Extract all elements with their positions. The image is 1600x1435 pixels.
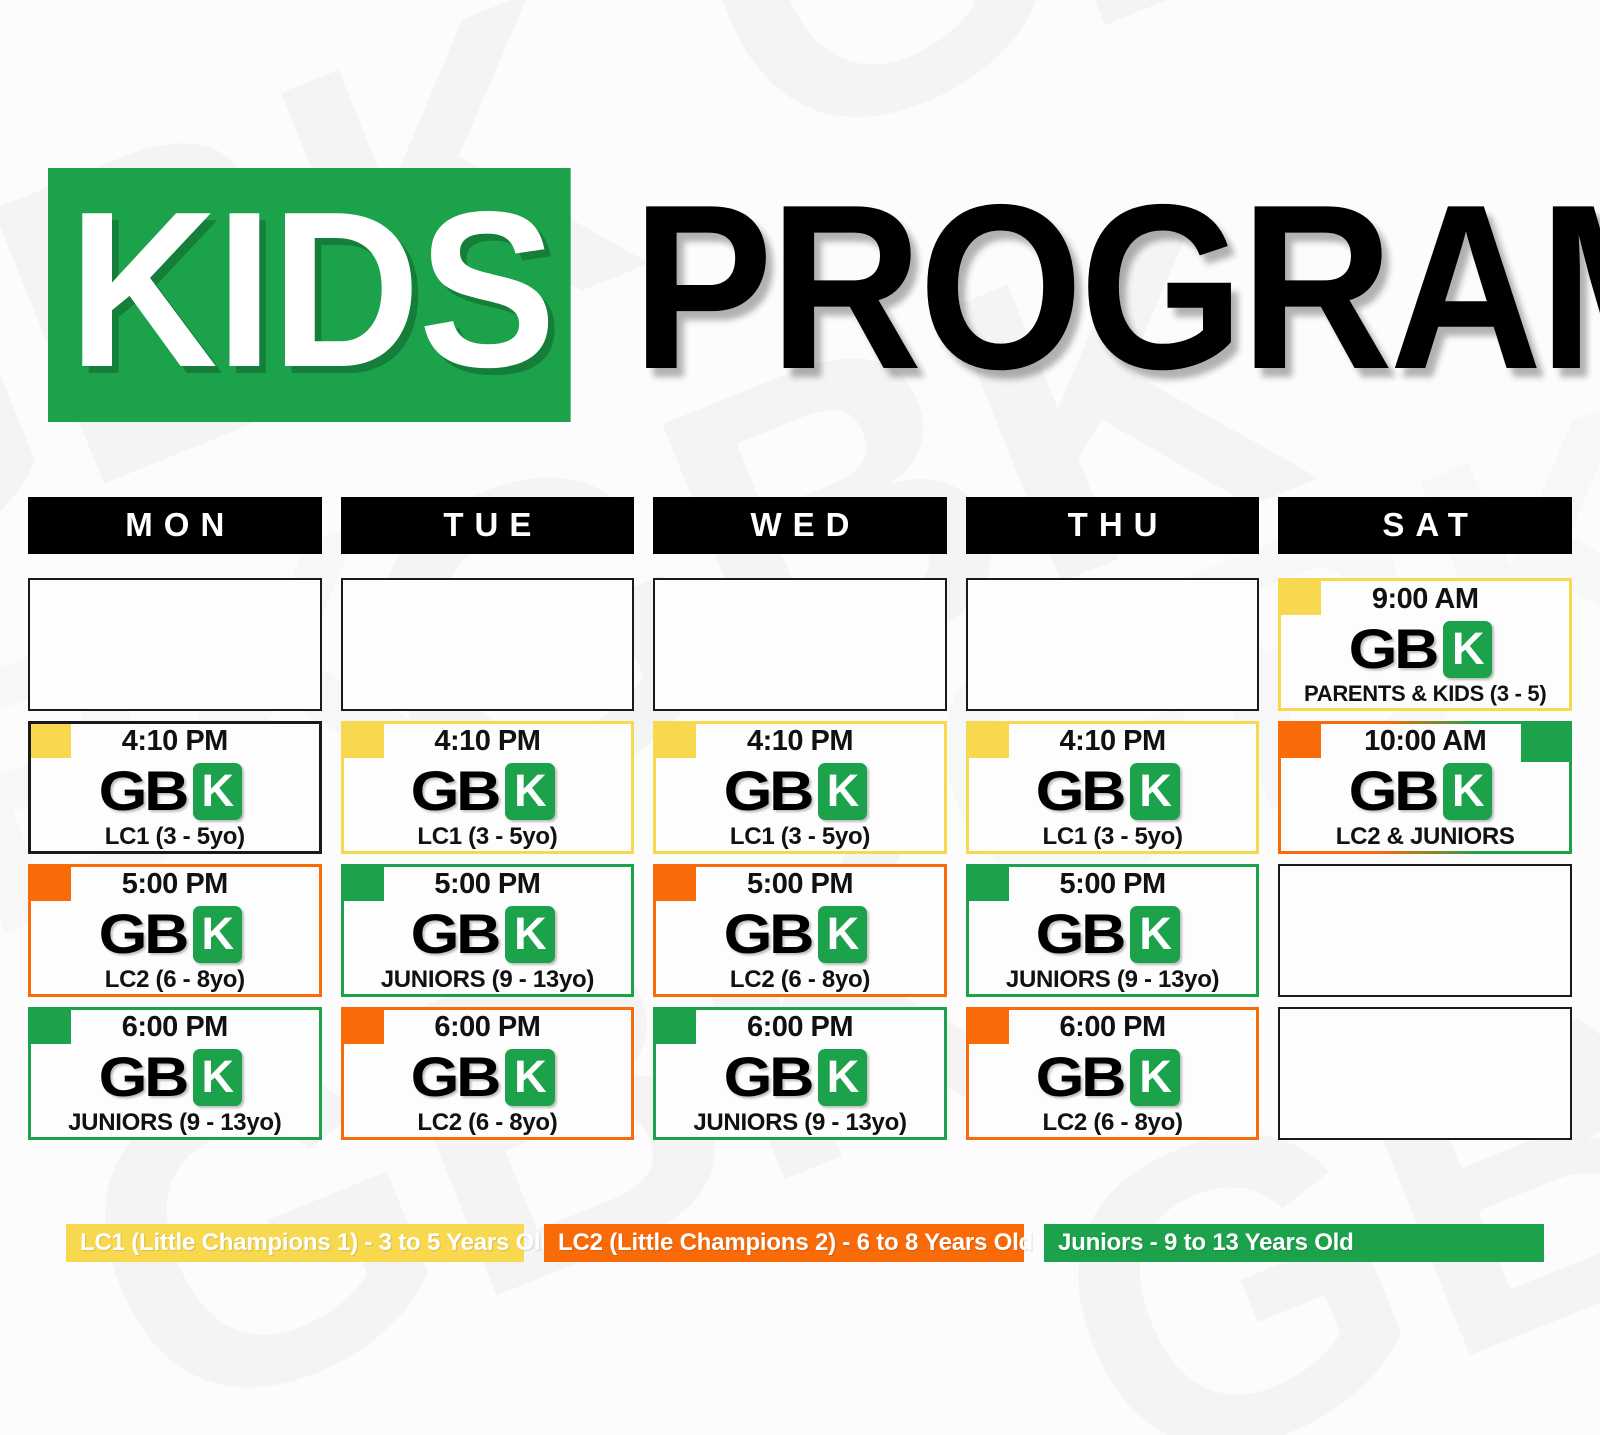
gbk-logo-k: K xyxy=(1443,621,1493,678)
class-label: LC2 (6 - 8yo) xyxy=(417,1111,557,1135)
gbk-logo-k: K xyxy=(193,1049,243,1106)
legend-item: LC1 (Little Champions 1) - 3 to 5 Years … xyxy=(66,1224,524,1262)
gbk-logo-k: K xyxy=(193,906,243,963)
class-card[interactable]: 5:00 PMGBKLC2 (6 - 8yo) xyxy=(653,864,947,997)
kids-programs-schedule: KIDS PROGRAMS MON4:10 PMGBKLC1 (3 - 5yo)… xyxy=(0,0,1600,1435)
class-time: 5:00 PM xyxy=(434,870,540,899)
gbk-logo-k: K xyxy=(1130,763,1180,820)
class-time: 5:00 PM xyxy=(122,870,228,899)
day-column-mon: MON4:10 PMGBKLC1 (3 - 5yo)5:00 PMGBKLC2 … xyxy=(28,497,322,1150)
empty-slot xyxy=(341,578,635,711)
day-header-thu: THU xyxy=(966,497,1260,554)
gbk-logo-k: K xyxy=(818,763,868,820)
class-card[interactable]: 4:10 PMGBKLC1 (3 - 5yo) xyxy=(28,721,322,854)
class-label: LC1 (3 - 5yo) xyxy=(1043,825,1183,849)
class-time: 4:10 PM xyxy=(434,727,540,756)
class-time: 4:10 PM xyxy=(122,727,228,756)
class-label: LC2 & JUNIORS xyxy=(1336,825,1515,849)
day-header-sat: SAT xyxy=(1278,497,1572,554)
page-title: KIDS PROGRAMS xyxy=(48,168,1600,422)
day-column-sat: SAT9:00 AMGBKPARENTS & KIDS (3 - 5)10:00… xyxy=(1278,497,1572,1150)
class-label: JUNIORS (9 - 13yo) xyxy=(68,1111,281,1135)
title-rest: PROGRAMS xyxy=(632,174,1600,400)
class-card[interactable]: 5:00 PMGBKJUNIORS (9 - 13yo) xyxy=(966,864,1260,997)
category-tab xyxy=(31,1010,71,1044)
category-tab xyxy=(344,724,384,758)
category-tab xyxy=(969,1010,1009,1044)
class-time: 4:10 PM xyxy=(1060,727,1166,756)
gbk-logo-k: K xyxy=(505,1049,555,1106)
category-tab xyxy=(1281,581,1321,615)
gbk-logo-k: K xyxy=(505,906,555,963)
gbk-logo-gb: GB xyxy=(723,1055,810,1100)
day-column-wed: WED4:10 PMGBKLC1 (3 - 5yo)5:00 PMGBKLC2 … xyxy=(653,497,947,1150)
gbk-logo: GBK xyxy=(1358,621,1493,678)
day-header-tue: TUE xyxy=(341,497,635,554)
gbk-logo-gb: GB xyxy=(411,1055,498,1100)
class-card[interactable]: 6:00 PMGBKLC2 (6 - 8yo) xyxy=(341,1007,635,1140)
title-highlight: KIDS xyxy=(48,168,571,422)
category-tab-secondary xyxy=(1521,724,1569,762)
day-column-tue: TUE4:10 PMGBKLC1 (3 - 5yo)5:00 PMGBKJUNI… xyxy=(341,497,635,1150)
class-card[interactable]: 4:10 PMGBKLC1 (3 - 5yo) xyxy=(966,721,1260,854)
gbk-logo: GBK xyxy=(108,763,243,820)
class-time: 4:10 PM xyxy=(747,727,853,756)
category-tab xyxy=(656,867,696,901)
gbk-logo-gb: GB xyxy=(98,912,185,957)
legend-item: Juniors - 9 to 13 Years Old xyxy=(1044,1224,1544,1262)
category-tab xyxy=(969,724,1009,758)
gbk-logo-gb: GB xyxy=(1349,769,1436,814)
gbk-logo: GBK xyxy=(1045,1049,1180,1106)
gbk-logo-gb: GB xyxy=(411,769,498,814)
gbk-logo-gb: GB xyxy=(723,769,810,814)
category-tab xyxy=(344,1010,384,1044)
gbk-logo-k: K xyxy=(1130,1049,1180,1106)
class-label: JUNIORS (9 - 13yo) xyxy=(1006,968,1219,992)
gbk-logo-k: K xyxy=(1443,763,1493,820)
class-label: PARENTS & KIDS (3 - 5) xyxy=(1304,683,1546,705)
class-label: JUNIORS (9 - 13yo) xyxy=(693,1111,906,1135)
gbk-logo-gb: GB xyxy=(1036,769,1123,814)
gbk-logo: GBK xyxy=(420,763,555,820)
class-time: 6:00 PM xyxy=(747,1013,853,1042)
class-card[interactable]: 4:10 PMGBKLC1 (3 - 5yo) xyxy=(341,721,635,854)
gbk-logo: GBK xyxy=(733,1049,868,1106)
category-tab xyxy=(969,867,1009,901)
category-tab xyxy=(1281,724,1321,758)
gbk-logo: GBK xyxy=(1358,763,1493,820)
class-label: LC1 (3 - 5yo) xyxy=(730,825,870,849)
class-time: 9:00 AM xyxy=(1372,585,1479,614)
gbk-logo: GBK xyxy=(420,1049,555,1106)
class-time: 10:00 AM xyxy=(1364,727,1486,756)
day-header-wed: WED xyxy=(653,497,947,554)
class-time: 6:00 PM xyxy=(1060,1013,1166,1042)
class-card[interactable]: 5:00 PMGBKJUNIORS (9 - 13yo) xyxy=(341,864,635,997)
class-label: LC1 (3 - 5yo) xyxy=(417,825,557,849)
gbk-logo-k: K xyxy=(193,763,243,820)
class-time: 6:00 PM xyxy=(122,1013,228,1042)
legend: LC1 (Little Champions 1) - 3 to 5 Years … xyxy=(66,1224,1544,1262)
gbk-logo: GBK xyxy=(733,906,868,963)
empty-slot xyxy=(1278,1007,1572,1140)
legend-item: LC2 (Little Champions 2) - 6 to 8 Years … xyxy=(544,1224,1024,1262)
class-card[interactable]: 5:00 PMGBKLC2 (6 - 8yo) xyxy=(28,864,322,997)
class-label: LC2 (6 - 8yo) xyxy=(1043,1111,1183,1135)
gbk-logo-gb: GB xyxy=(98,1055,185,1100)
empty-slot xyxy=(653,578,947,711)
gbk-logo: GBK xyxy=(1045,906,1180,963)
class-card[interactable]: 6:00 PMGBKJUNIORS (9 - 13yo) xyxy=(653,1007,947,1140)
empty-slot xyxy=(28,578,322,711)
gbk-logo-k: K xyxy=(505,763,555,820)
schedule-grid: MON4:10 PMGBKLC1 (3 - 5yo)5:00 PMGBKLC2 … xyxy=(28,497,1572,1150)
gbk-logo: GBK xyxy=(108,906,243,963)
category-tab xyxy=(344,867,384,901)
gbk-logo-gb: GB xyxy=(723,912,810,957)
gbk-logo-k: K xyxy=(818,1049,868,1106)
class-time: 5:00 PM xyxy=(1060,870,1166,899)
category-tab xyxy=(656,1010,696,1044)
gbk-logo-gb: GB xyxy=(98,769,185,814)
category-tab xyxy=(31,724,71,758)
gbk-logo: GBK xyxy=(420,906,555,963)
class-card[interactable]: 9:00 AMGBKPARENTS & KIDS (3 - 5) xyxy=(1278,578,1572,711)
empty-slot xyxy=(966,578,1260,711)
class-label: LC2 (6 - 8yo) xyxy=(730,968,870,992)
class-card[interactable]: 6:00 PMGBKLC2 (6 - 8yo) xyxy=(966,1007,1260,1140)
category-tab xyxy=(656,724,696,758)
gbk-logo: GBK xyxy=(1045,763,1180,820)
class-label: LC1 (3 - 5yo) xyxy=(105,825,245,849)
empty-slot xyxy=(1278,864,1572,997)
class-label: LC2 (6 - 8yo) xyxy=(105,968,245,992)
class-time: 5:00 PM xyxy=(747,870,853,899)
class-label: JUNIORS (9 - 13yo) xyxy=(381,968,594,992)
day-header-mon: MON xyxy=(28,497,322,554)
class-card[interactable]: 4:10 PMGBKLC1 (3 - 5yo) xyxy=(653,721,947,854)
gbk-logo-gb: GB xyxy=(411,912,498,957)
gbk-logo-gb: GB xyxy=(1036,912,1123,957)
gbk-logo-k: K xyxy=(1130,906,1180,963)
day-column-thu: THU4:10 PMGBKLC1 (3 - 5yo)5:00 PMGBKJUNI… xyxy=(966,497,1260,1150)
gbk-logo-gb: GB xyxy=(1349,627,1436,672)
class-time: 6:00 PM xyxy=(434,1013,540,1042)
gbk-logo-k: K xyxy=(818,906,868,963)
class-card[interactable]: 6:00 PMGBKJUNIORS (9 - 13yo) xyxy=(28,1007,322,1140)
gbk-logo: GBK xyxy=(108,1049,243,1106)
category-tab xyxy=(31,867,71,901)
gbk-logo-gb: GB xyxy=(1036,1055,1123,1100)
class-card[interactable]: 10:00 AMGBKLC2 & JUNIORS xyxy=(1278,721,1572,854)
gbk-logo: GBK xyxy=(733,763,868,820)
